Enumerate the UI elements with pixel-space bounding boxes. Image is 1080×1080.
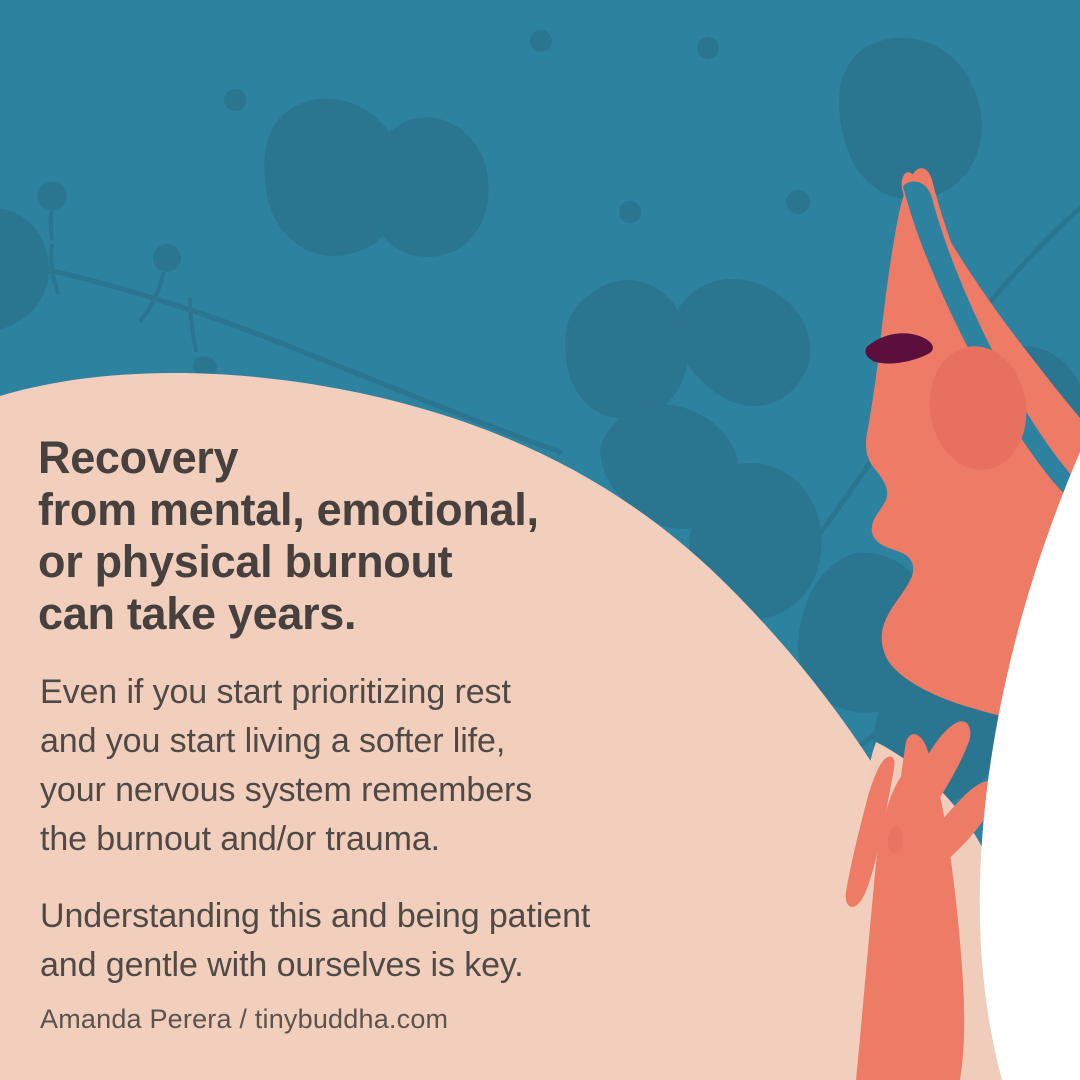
leaf xyxy=(565,280,688,419)
illustration-artwork xyxy=(0,0,1080,1080)
dot xyxy=(619,201,641,223)
leaf xyxy=(367,118,488,257)
dot xyxy=(697,37,719,59)
quote-poster: Recovery from mental, emotional, or phys… xyxy=(0,0,1080,1080)
dot xyxy=(786,190,810,214)
dot xyxy=(224,89,246,111)
dot xyxy=(530,30,552,52)
